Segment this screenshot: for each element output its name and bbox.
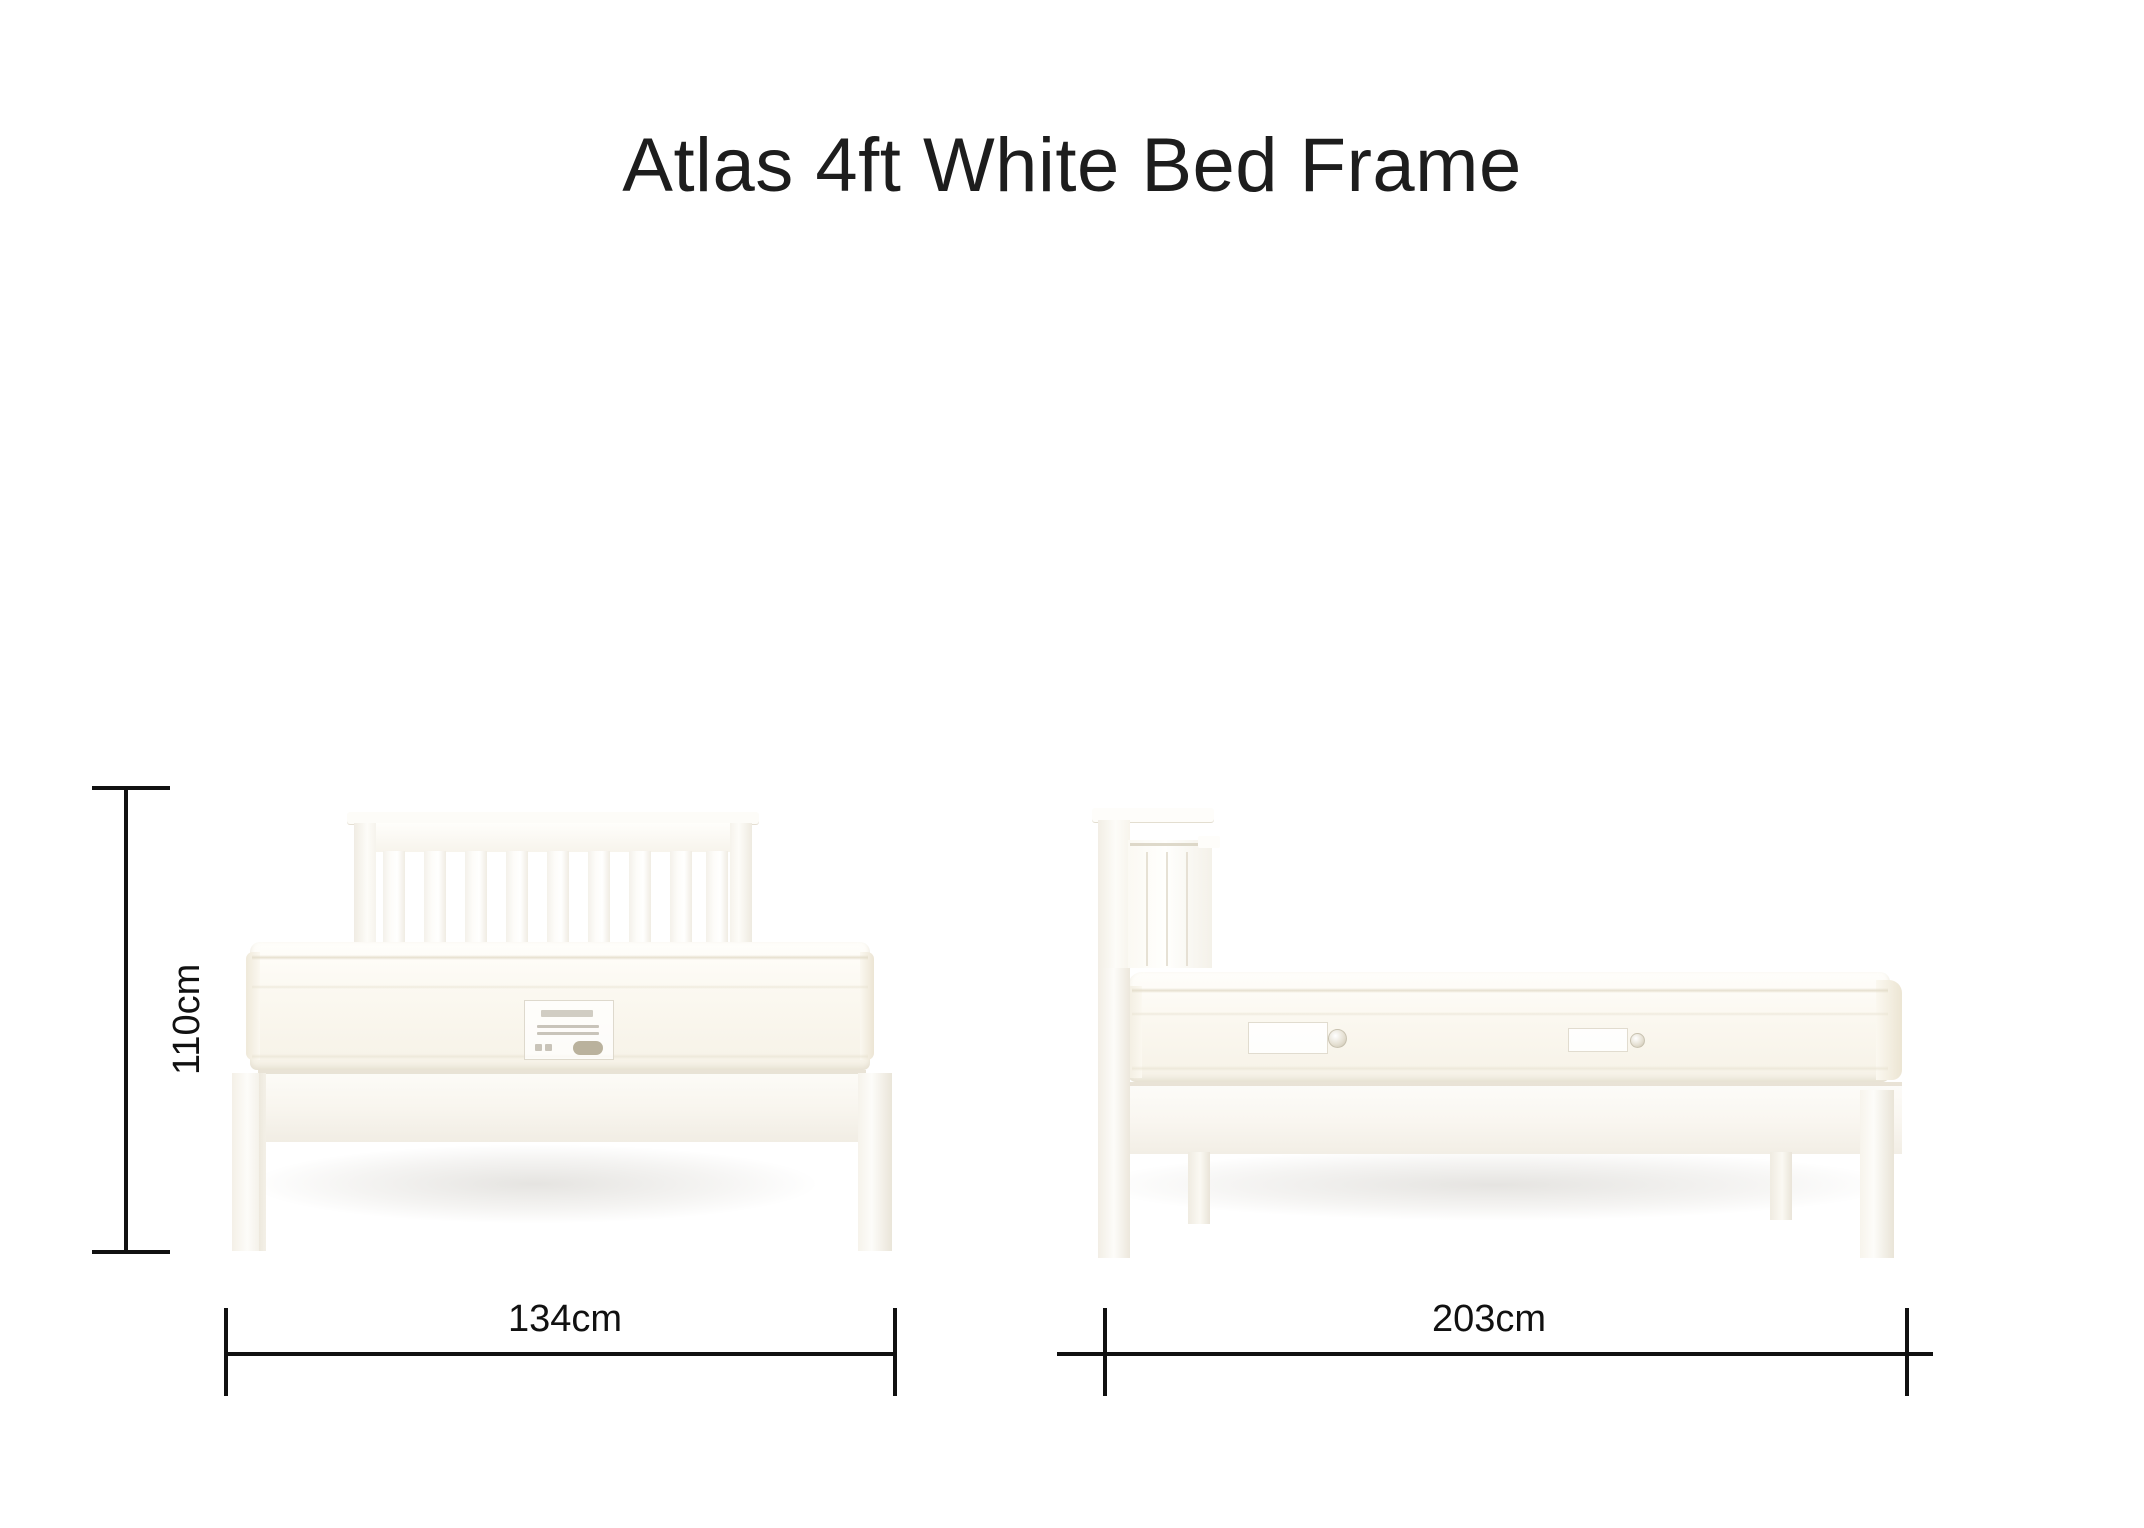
width-dimension-label: 134cm bbox=[508, 1300, 622, 1338]
side-mattress-vent-button bbox=[1630, 1033, 1645, 1048]
front-headboard-slat bbox=[588, 851, 610, 951]
front-left-leg-inner-edge bbox=[259, 1073, 266, 1251]
front-right-leg bbox=[858, 1073, 892, 1251]
front-mattress-care-label bbox=[524, 1000, 614, 1060]
front-headboard-slat bbox=[383, 851, 405, 951]
label-badge bbox=[573, 1041, 603, 1055]
front-headboard-right-post bbox=[730, 823, 752, 943]
front-headboard-slat bbox=[465, 851, 487, 951]
front-base-rail bbox=[258, 1070, 866, 1142]
front-mattress-right-edge bbox=[860, 952, 874, 1060]
front-mattress-top-seam bbox=[252, 955, 868, 960]
length-dimension-label: 203cm bbox=[1432, 1300, 1546, 1338]
side-mattress-quilt-seam bbox=[1132, 1012, 1888, 1016]
side-mattress-vent-button bbox=[1328, 1029, 1347, 1048]
width-dimension-tick-left bbox=[224, 1308, 228, 1396]
front-headboard-left-post bbox=[354, 823, 376, 943]
side-mattress-quilt-seam bbox=[1132, 1066, 1888, 1071]
side-headboard-post bbox=[1098, 820, 1130, 968]
side-base-rail-top-highlight bbox=[1120, 1082, 1902, 1086]
front-headboard-slat bbox=[670, 851, 692, 951]
front-base-rail-top-highlight bbox=[258, 1070, 866, 1074]
front-headboard-slat bbox=[506, 851, 528, 951]
side-headboard-groove bbox=[1166, 852, 1168, 966]
height-dimension-line bbox=[124, 786, 128, 1254]
side-mattress-top-seam bbox=[1132, 988, 1888, 993]
length-dimension-tick-left bbox=[1103, 1308, 1107, 1396]
label-text-line bbox=[537, 1025, 599, 1028]
side-head-leg bbox=[1098, 968, 1130, 1258]
height-dimension-tick-bottom bbox=[92, 1250, 170, 1254]
label-text-line bbox=[537, 1032, 599, 1035]
height-dimension-tick-top bbox=[92, 786, 170, 790]
front-mattress-quilt-seam bbox=[252, 985, 868, 989]
front-mattress-left-edge bbox=[246, 952, 260, 1060]
label-brand-mark bbox=[541, 1010, 593, 1017]
label-icon bbox=[535, 1044, 542, 1051]
front-headboard-slat bbox=[706, 851, 728, 951]
side-headboard-groove bbox=[1186, 852, 1188, 966]
width-dimension-tick-right bbox=[893, 1308, 897, 1396]
front-headboard-slat bbox=[547, 851, 569, 951]
width-dimension-line bbox=[225, 1352, 897, 1356]
side-mattress-foot-end bbox=[1876, 980, 1902, 1080]
side-foot-leg bbox=[1860, 1090, 1894, 1258]
bed-front-view: 110cm 134cm bbox=[0, 0, 980, 1528]
front-headboard-slat bbox=[629, 851, 651, 951]
length-dimension-tick-right bbox=[1905, 1308, 1909, 1396]
bed-side-view: 203cm bbox=[980, 0, 2144, 1528]
front-view-floor-shadow bbox=[255, 1145, 815, 1223]
height-dimension-label: 110cm bbox=[168, 964, 206, 1075]
label-icon bbox=[545, 1044, 552, 1051]
front-headboard-slat bbox=[424, 851, 446, 951]
length-dimension-line bbox=[1057, 1352, 1933, 1356]
side-centre-support-leg bbox=[1188, 1152, 1210, 1224]
side-mattress-handle-tag bbox=[1248, 1022, 1328, 1054]
side-headboard-panel-cap bbox=[1198, 836, 1220, 848]
front-headboard-top-rail bbox=[354, 823, 752, 852]
side-centre-support-leg bbox=[1770, 1152, 1792, 1220]
side-mattress-handle-tag bbox=[1568, 1028, 1628, 1052]
side-base-rail bbox=[1120, 1082, 1902, 1154]
side-headboard-groove bbox=[1146, 852, 1148, 966]
side-headboard-panel bbox=[1128, 840, 1212, 968]
